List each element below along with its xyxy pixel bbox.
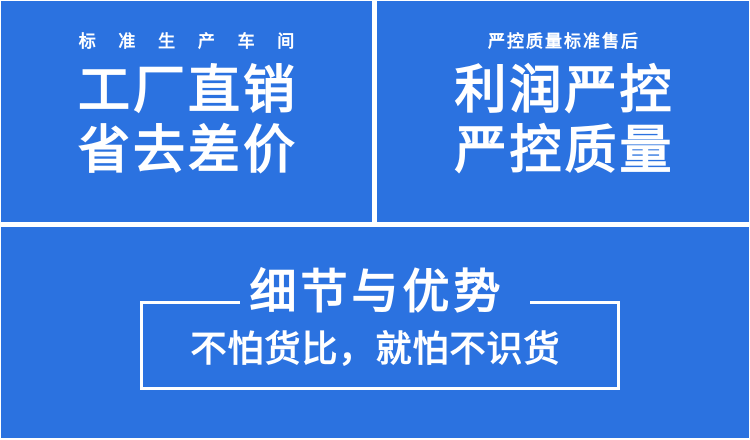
promo-banner-image: 标 准 生 产 车 间 工厂直销 省去差价 严控质量标准售后 利润严控 严控质量… [0, 0, 750, 440]
right-panel-headline-line1: 利润严控 [451, 62, 674, 120]
panel-factory-direct-content: 标 准 生 产 车 间 工厂直销 省去差价 [1, 1, 372, 222]
banner-subtitle: 不怕货比，就怕不识货 [1, 331, 749, 367]
left-panel-headline-line1: 工厂直销 [75, 62, 298, 120]
panel-quality-control: 严控质量标准售后 利润严控 严控质量 [377, 1, 749, 222]
panel-quality-control-content: 严控质量标准售后 利润严控 严控质量 [377, 1, 749, 222]
panel-factory-direct: 标 准 生 产 车 间 工厂直销 省去差价 [1, 1, 372, 222]
right-panel-headline-line2: 严控质量 [451, 122, 674, 180]
right-panel-eyebrow: 严控质量标准售后 [486, 33, 640, 50]
left-panel-headline-line2: 省去差价 [75, 122, 298, 180]
panel-details-advantages: 细节与优势 不怕货比，就怕不识货 [1, 227, 749, 438]
banner-title: 细节与优势 [1, 268, 749, 315]
banner-content: 细节与优势 不怕货比，就怕不识货 [1, 227, 749, 438]
left-panel-eyebrow: 标 准 生 产 车 间 [70, 33, 304, 50]
